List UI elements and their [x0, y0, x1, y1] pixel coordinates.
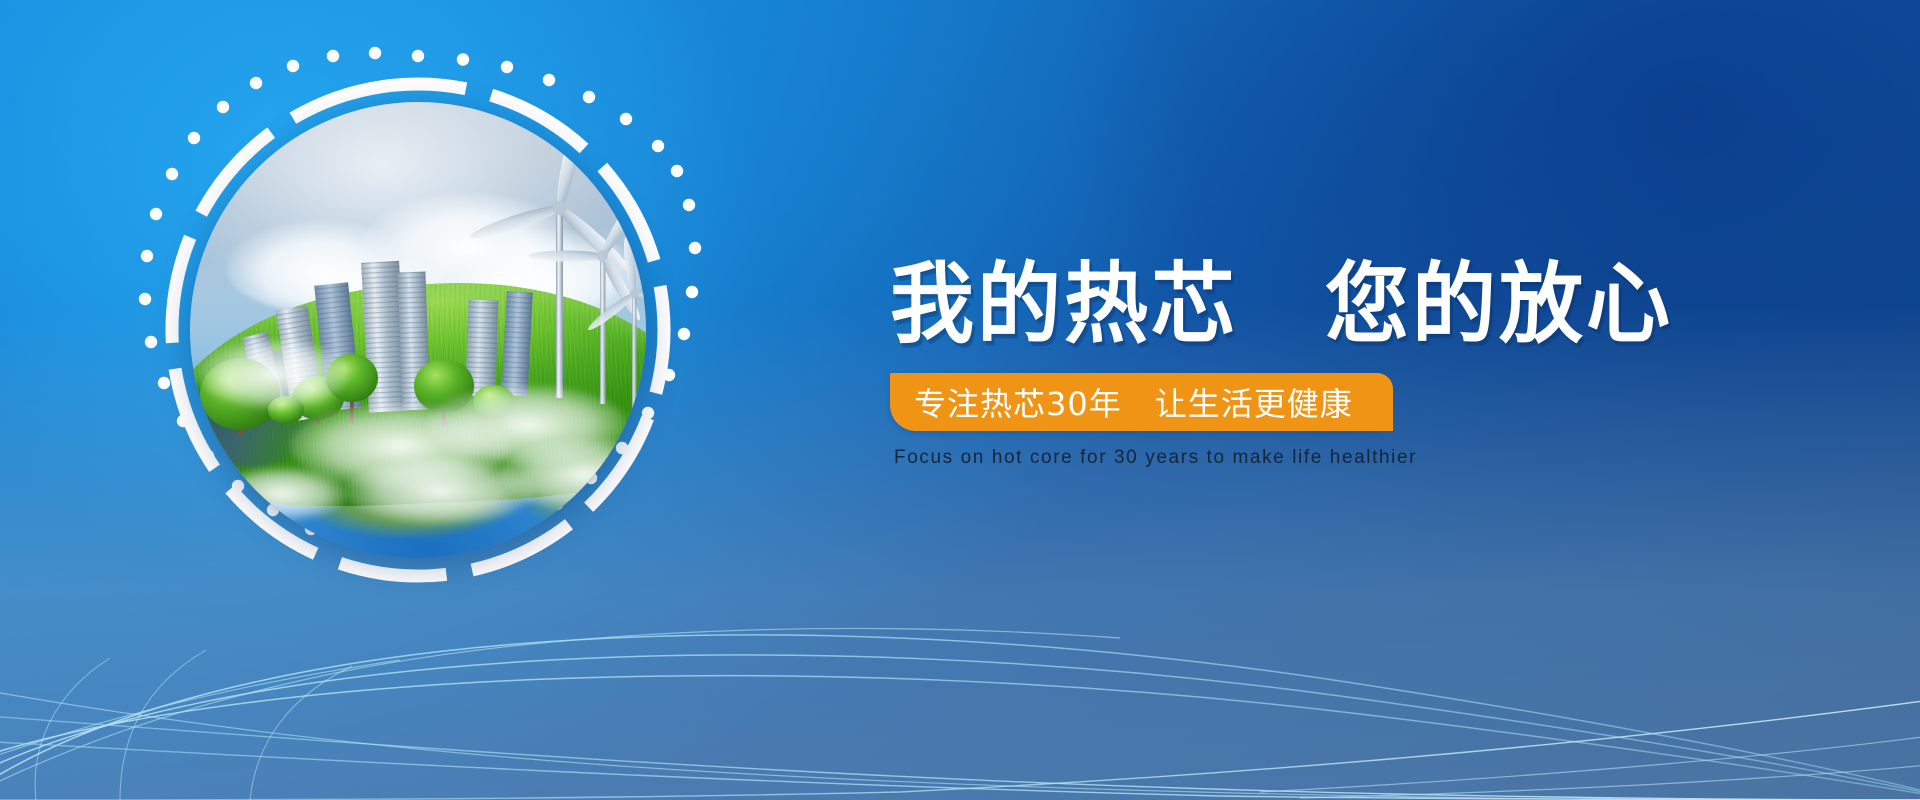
page-title: 我的热芯 您的放心 — [890, 258, 1790, 351]
hero-text-block: 我的热芯 您的放心 专注热芯30年 让生活更健康 Focus on hot co… — [890, 258, 1790, 469]
english-tagline: Focus on hot core for 30 years to make l… — [890, 447, 1790, 469]
status-badge: 专注热芯30年 让生活更健康 — [890, 373, 1379, 431]
globe-lower-cloud-band — [190, 102, 646, 558]
globe-image — [190, 102, 646, 558]
badge-label: 专注热芯30年 让生活更健康 — [914, 379, 1353, 425]
eco-globe-graphic — [128, 40, 708, 620]
badge-notch — [1377, 373, 1393, 431]
badge-row: 专注热芯30年 让生活更健康 — [890, 373, 1790, 431]
hero-banner: 我的热芯 您的放心 专注热芯30年 让生活更健康 Focus on hot co… — [0, 0, 1920, 800]
